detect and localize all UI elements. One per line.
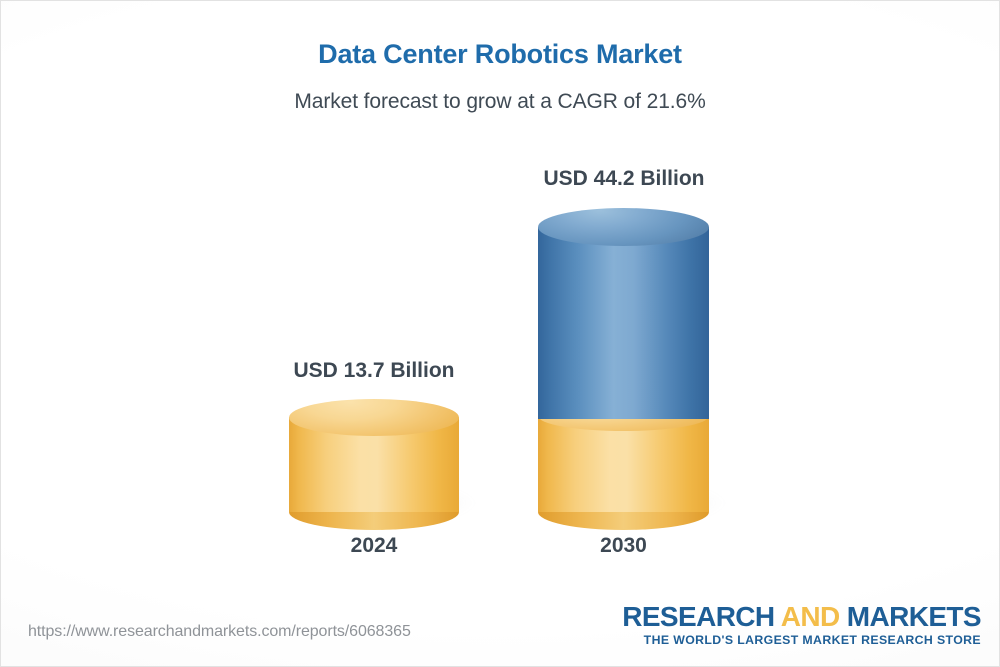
brand-logo-markets: MARKETS [840,601,981,632]
category-label-2030: 2030 [538,534,709,558]
cylinder-top-2024 [289,399,459,436]
brand-logo-tagline: THE WORLD'S LARGEST MARKET RESEARCH STOR… [622,633,981,647]
bar-group-2024[interactable] [289,399,459,533]
chart-canvas: Data Center Robotics Market Market forec… [0,0,1000,667]
cylinder-segment-growth-2030 [538,227,709,419]
cylinder-2030[interactable] [538,208,709,513]
bar-group-2030[interactable] [538,208,709,533]
brand-logo-research: RESEARCH [622,601,780,632]
value-label-2030: USD 44.2 Billion [509,167,739,191]
category-label-2024: 2024 [289,534,459,558]
cylinder-top-2030 [538,208,709,246]
page-title: Data Center Robotics Market [1,39,999,70]
value-label-2024: USD 13.7 Billion [259,359,489,383]
source-url[interactable]: https://www.researchandmarkets.com/repor… [28,623,411,641]
brand-logo-wordmark: RESEARCH AND MARKETS [622,602,981,631]
chart-subtitle: Market forecast to grow at a CAGR of 21.… [1,90,999,114]
brand-logo[interactable]: RESEARCH AND MARKETS THE WORLD'S LARGEST… [622,602,981,647]
cylinder-2024[interactable] [289,399,459,513]
brand-logo-and: AND [781,601,840,632]
